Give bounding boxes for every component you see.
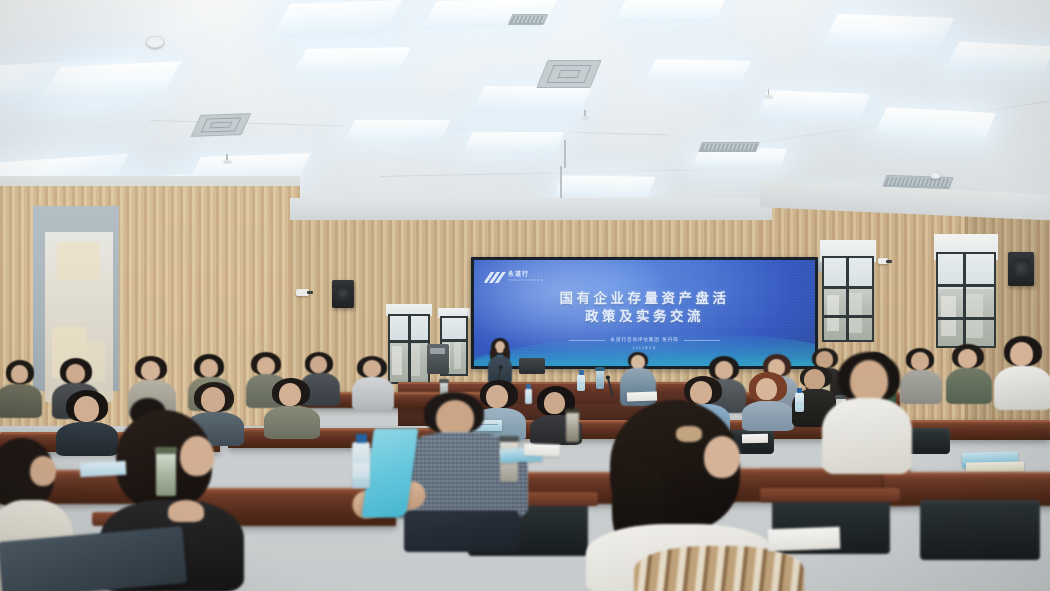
audience-person xyxy=(946,344,992,404)
handout-booklet xyxy=(966,461,1024,472)
chair-back xyxy=(920,500,1040,560)
led-presentation-screen[interactable]: 永道行 YONGDAOHANG 国有企业存量资产盘活 政策及实务交流 永道行咨询… xyxy=(474,260,815,366)
credit-rule-left xyxy=(569,340,605,341)
audience-person-foreground xyxy=(822,352,912,472)
ceiling-light-panel xyxy=(472,86,593,112)
hvac-vent xyxy=(536,60,601,88)
smoke-detector-icon xyxy=(146,36,164,48)
presentation-title: 国有企业存量资产盘活 政策及实务交流 xyxy=(474,291,815,326)
ceiling-light-panel xyxy=(947,41,1050,72)
vacuum-tumbler xyxy=(156,452,176,496)
wall-soffit-back xyxy=(290,198,772,220)
smoke-detector-icon xyxy=(930,172,941,179)
speaker-water-bottle xyxy=(596,370,604,389)
logo-name-cn: 永道行 xyxy=(508,272,544,278)
presenter-credit: 永道行咨询评估集团 张丹阳 xyxy=(474,337,815,343)
trousers xyxy=(404,510,520,552)
wall-speaker-right xyxy=(1008,252,1034,286)
water-bottle xyxy=(352,442,370,488)
presentation-logo: 永道行 YONGDAOHANG xyxy=(486,272,544,283)
presenter-name: 永道行咨询评估集团 张丹阳 xyxy=(610,337,678,343)
ceiling-light-panel xyxy=(293,47,411,75)
moderator-person xyxy=(487,338,513,384)
hvac-vent xyxy=(698,142,760,152)
audience-person xyxy=(352,356,394,410)
ceiling-light-panel xyxy=(272,0,403,38)
handout-booklet xyxy=(80,461,127,477)
logo-name-en: YONGDAOHANG xyxy=(508,280,544,283)
vacuum-tumbler xyxy=(566,412,579,442)
window-left-1 xyxy=(388,314,430,384)
audience-person xyxy=(0,360,40,418)
ceiling-light-panel xyxy=(554,175,656,197)
notepad xyxy=(524,443,560,456)
sprinkler-head-icon xyxy=(222,154,232,166)
presentation-title-line-2: 政策及实务交流 xyxy=(474,309,815,326)
ceiling-light-panel xyxy=(824,14,954,48)
security-camera-left xyxy=(296,289,309,296)
company-logo-icon xyxy=(484,272,506,283)
credit-rule-right xyxy=(684,340,720,341)
hvac-vent xyxy=(508,14,549,25)
sprinkler-head-icon xyxy=(580,110,590,122)
conference-room-photo: 永道行 YONGDAOHANG 国有企业存量资产盘活 政策及实务交流 永道行咨询… xyxy=(0,0,1050,591)
shoulder-skin xyxy=(168,500,204,522)
hair-tie xyxy=(676,426,702,442)
presentation-title-line-1: 国有企业存量资产盘活 xyxy=(474,291,815,308)
window-right-2 xyxy=(936,252,996,348)
wall-speaker-left xyxy=(332,280,354,308)
presentation-date: 2024年8月 xyxy=(474,345,815,350)
stage-monitor xyxy=(519,358,545,374)
water-bottle xyxy=(795,392,804,412)
audience-person xyxy=(266,378,318,438)
ceiling-light-panel xyxy=(464,132,565,152)
notepad xyxy=(768,527,841,551)
chair-frame xyxy=(760,488,900,502)
ceiling-light-panel xyxy=(758,90,871,118)
ceiling-hanger-rod xyxy=(564,140,566,168)
ceiling-light-panel xyxy=(645,59,750,83)
audience-person xyxy=(996,336,1050,408)
ceiling-light-panel xyxy=(345,120,451,140)
security-camera-right xyxy=(878,258,888,264)
av-rack-panel xyxy=(430,348,445,354)
window-right-1 xyxy=(822,256,874,342)
ceiling-light-panel xyxy=(615,0,726,22)
sprinkler-head-icon xyxy=(764,89,773,100)
